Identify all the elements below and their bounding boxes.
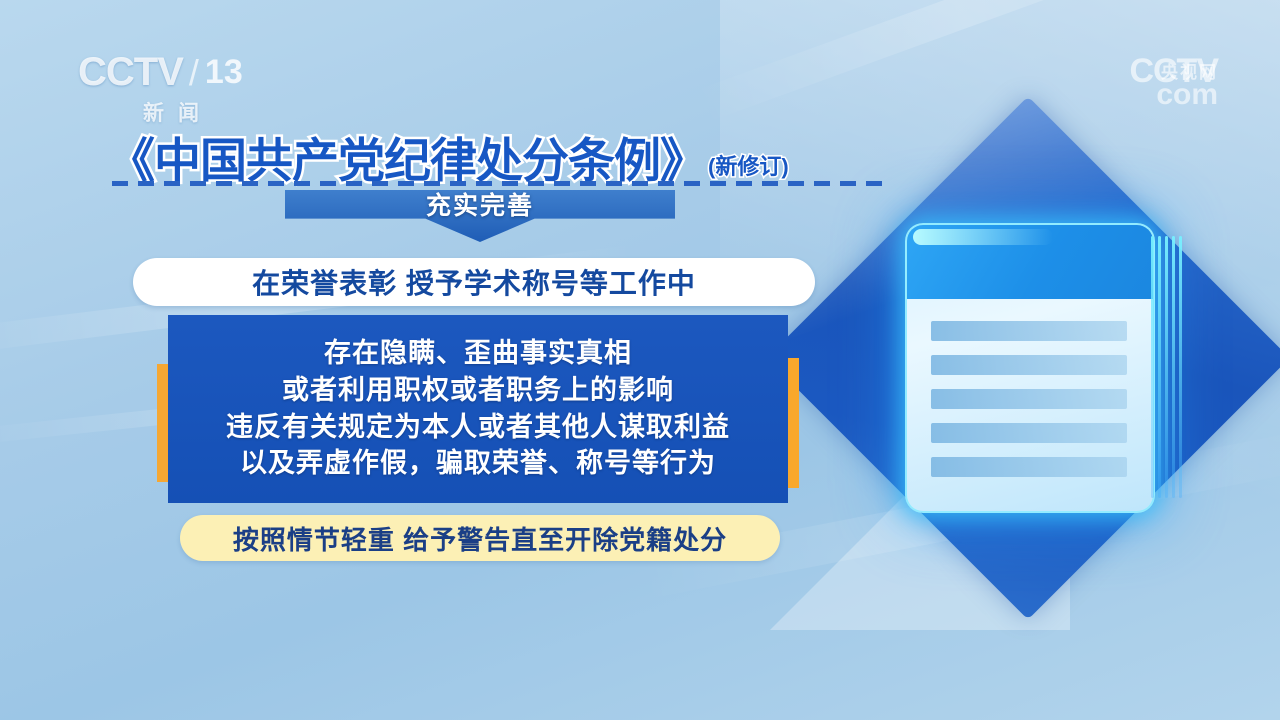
page-title: 《中国共产党纪律处分条例》 (新修订) <box>108 128 908 184</box>
channel-name-cn: 新闻 <box>78 97 278 127</box>
context-banner: 在荣誉表彰 授予学术称号等工作中 <box>133 258 815 306</box>
provision-text-box: 存在隐瞒、歪曲事实真相 或者利用职权或者职务上的影响 违反有关规定为本人或者其他… <box>168 315 788 503</box>
cctv-wordmark: CCTV <box>78 50 183 95</box>
document-header-glow <box>913 229 1053 245</box>
penalty-banner: 按照情节轻重 给予警告直至开除党籍处分 <box>180 515 780 561</box>
document-text-line <box>931 457 1127 477</box>
document-header-band <box>907 225 1153 299</box>
page-title-main: 《中国共产党纪律处分条例》 <box>108 137 706 184</box>
channel-logo: CCTV / 13 新闻 <box>78 50 338 132</box>
document-text-line <box>931 355 1127 375</box>
document-text-line <box>931 321 1127 341</box>
page-title-suffix: (新修订) <box>708 149 789 184</box>
lower-third: 新闻直播间 LIVE NEWS 12月29日 09:42 与海关总署28日签署合… <box>0 600 1280 720</box>
document-text-line <box>931 389 1127 409</box>
document-page-stack <box>1151 236 1191 498</box>
document-text-line <box>931 423 1127 443</box>
logo-slash-icon: / <box>189 52 199 94</box>
title-dashed-divider <box>112 181 892 186</box>
provision-line: 存在隐瞒、歪曲事实真相 <box>324 336 632 372</box>
context-banner-label: 在荣誉表彰 授予学术称号等工作中 <box>252 262 696 302</box>
watermark-com: com <box>1156 78 1218 112</box>
arrow-banner-label: 充实完善 <box>426 186 534 222</box>
channel-number: 13 <box>205 53 243 92</box>
provision-line: 以及弄虚作假，骗取荣誉、称号等行为 <box>240 446 716 482</box>
cctv-com-watermark: CCTV 央视网 com <box>1129 52 1218 91</box>
document-icon <box>905 223 1155 513</box>
penalty-banner-label: 按照情节轻重 给予警告直至开除党籍处分 <box>233 520 727 557</box>
provision-line: 违反有关规定为本人或者其他人谋取利益 <box>226 410 730 446</box>
document-graphic <box>793 118 1263 618</box>
provision-line: 或者利用职权或者职务上的影响 <box>282 373 674 409</box>
